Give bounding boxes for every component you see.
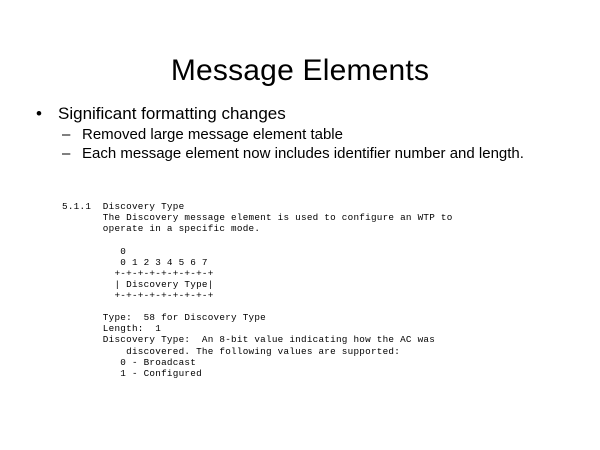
page-title: Message Elements xyxy=(0,53,600,89)
code-line: operate in a specific mode. xyxy=(62,223,453,234)
list-item-label: Removed large message element table xyxy=(82,126,343,143)
code-line: The Discovery message element is used to… xyxy=(62,212,453,223)
bullet-marker-icon: • xyxy=(36,103,42,125)
code-line: Type: 58 for Discovery Type xyxy=(62,312,453,323)
code-line: 5.1.1 Discovery Type xyxy=(62,201,453,212)
rfc-code-block: 5.1.1 Discovery Type The Discovery messa… xyxy=(62,201,453,379)
code-line: Length: 1 xyxy=(62,323,453,334)
code-line: Discovery Type: An 8-bit value indicatin… xyxy=(62,334,453,345)
code-line xyxy=(62,235,453,246)
code-line: | Discovery Type| xyxy=(62,279,453,290)
list-item: • Significant formatting changes xyxy=(0,103,600,125)
dash-marker-icon: – xyxy=(62,125,70,144)
slide-body: • Significant formatting changes – Remov… xyxy=(0,103,600,163)
list-item: – Removed large message element table xyxy=(0,125,600,144)
code-line: 0 1 2 3 4 5 6 7 xyxy=(62,257,453,268)
code-line: +-+-+-+-+-+-+-+-+ xyxy=(62,268,453,279)
code-line xyxy=(62,301,453,312)
slide-canvas: Message Elements • Significant formattin… xyxy=(0,0,600,450)
code-line: discovered. The following values are sup… xyxy=(62,346,453,357)
list-item: – Each message element now includes iden… xyxy=(0,144,600,163)
code-line: 0 xyxy=(62,246,453,257)
code-line: 1 - Configured xyxy=(62,368,453,379)
code-line: 0 - Broadcast xyxy=(62,357,453,368)
dash-marker-icon: – xyxy=(62,144,70,163)
code-line: +-+-+-+-+-+-+-+-+ xyxy=(62,290,453,301)
list-item-label: Significant formatting changes xyxy=(58,104,286,123)
list-item-label: Each message element now includes identi… xyxy=(82,145,524,162)
